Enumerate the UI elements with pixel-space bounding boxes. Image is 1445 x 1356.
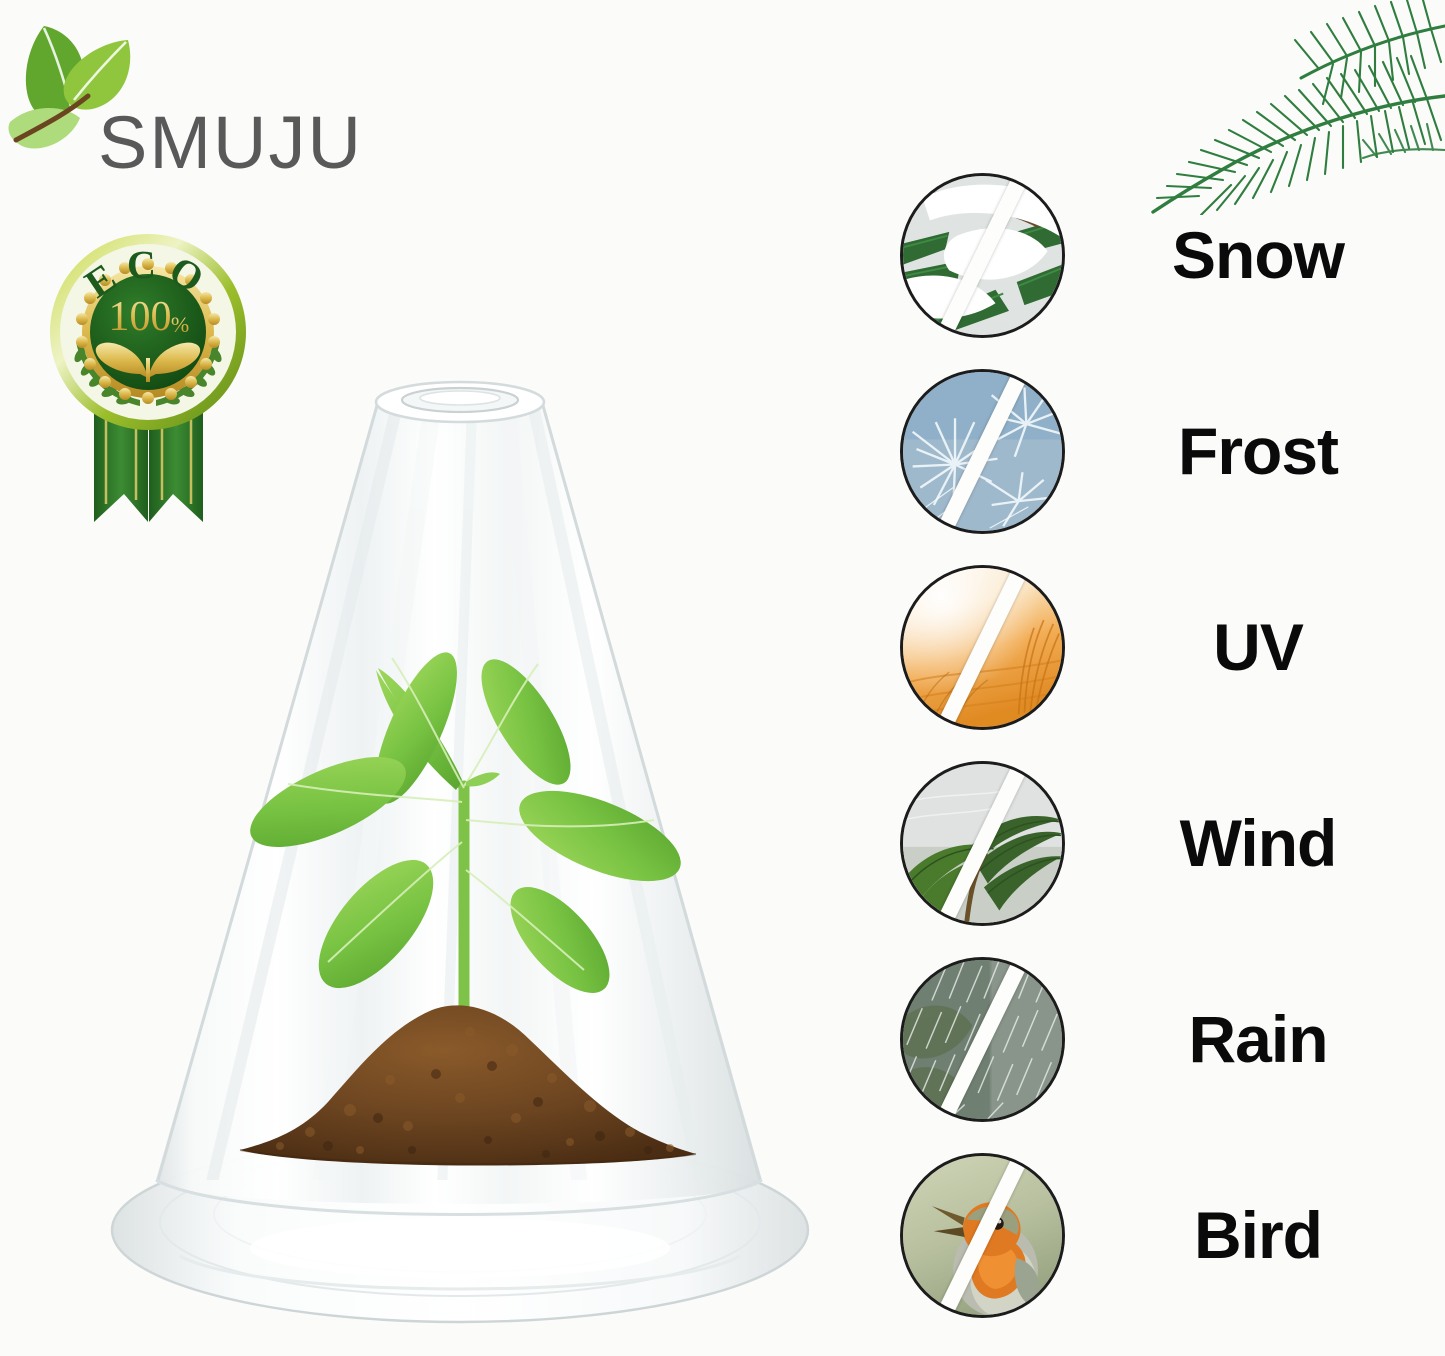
feature-list: Snow — [900, 170, 1445, 1350]
brand-name: SMUJU — [98, 106, 363, 180]
snow-covered-pine-icon — [900, 173, 1065, 338]
product-image — [60, 350, 860, 1350]
feature-label-frost: Frost — [1065, 418, 1445, 484]
wind-blown-palms-icon — [900, 761, 1065, 926]
feature-row-uv[interactable]: UV — [900, 562, 1445, 732]
eco-percent-symbol: % — [171, 312, 189, 337]
feature-label-rain: Rain — [1065, 1006, 1445, 1072]
brand-logo: SMUJU — [8, 18, 368, 168]
feature-label-wind: Wind — [1065, 810, 1445, 876]
feature-row-bird[interactable]: Bird — [900, 1150, 1445, 1320]
feature-row-rain[interactable]: Rain — [900, 954, 1445, 1124]
heavy-rain-icon — [900, 957, 1065, 1122]
feature-row-frost[interactable]: Frost — [900, 366, 1445, 536]
uv-sun-glare-icon — [900, 565, 1065, 730]
feature-label-bird: Bird — [1065, 1202, 1445, 1268]
feature-row-snow[interactable]: Snow — [900, 170, 1445, 340]
feature-label-snow: Snow — [1065, 222, 1445, 288]
feature-label-uv: UV — [1065, 614, 1445, 680]
frost-crystals-icon — [900, 369, 1065, 534]
feature-row-wind[interactable]: Wind — [900, 758, 1445, 928]
robin-bird-icon — [900, 1153, 1065, 1318]
eco-percent-number: 100 — [109, 294, 172, 340]
top-vent-opening — [376, 382, 544, 422]
